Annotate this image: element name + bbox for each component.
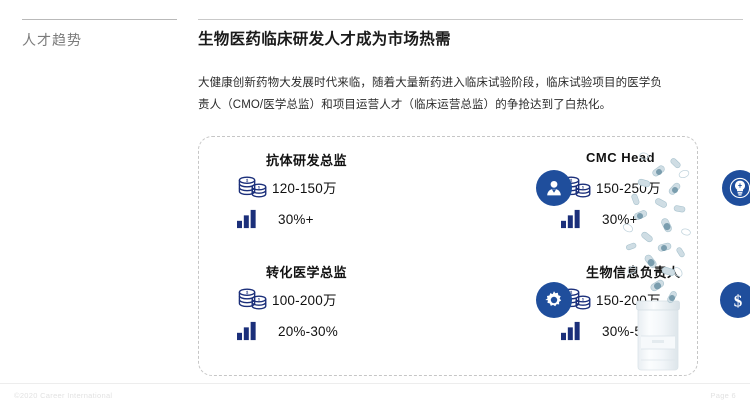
pill-bottle-icon (608, 140, 708, 376)
lightbulb-icon (722, 170, 750, 206)
page-title: 生物医药临床研发人才成为市场热需 (198, 27, 451, 49)
dollar-icon: $ (720, 282, 750, 318)
stat-block-antibody-rd-director: 抗体研发总监 $ $ 120-150万 (224, 150, 429, 246)
salary-row: $ $ 100-200万 (236, 286, 337, 312)
section-divider (22, 19, 177, 20)
coins-icon: $ $ (236, 174, 270, 200)
growth-row: 20%-30% (236, 321, 338, 341)
body-line-2: 责人（CMO/医学总监）和项目运营人才（临床运营总监）的争抢达到了白热化。 (198, 94, 743, 116)
salary-value: 100-200万 (272, 289, 337, 309)
bar-chart-icon (560, 321, 582, 341)
bar-chart-icon (236, 209, 258, 229)
svg-text:$: $ (246, 178, 249, 183)
page-number: Page 6 (710, 391, 736, 400)
salary-row: $ $ 120-150万 (236, 174, 337, 200)
gear-icon (536, 282, 572, 318)
svg-text:$: $ (582, 185, 585, 190)
title-divider (198, 19, 743, 20)
body-line-1: 大健康创新药物大发展时代来临，随着大量新药进入临床试验阶段，临床试验项目的医学负 (198, 72, 743, 94)
body-paragraph: 大健康创新药物大发展时代来临，随着大量新药进入临床试验阶段，临床试验项目的医学负… (198, 72, 743, 116)
copyright-text: ©2020 Career International (14, 391, 112, 400)
svg-text:$: $ (582, 297, 585, 302)
section-label: 人才趋势 (22, 30, 82, 50)
svg-text:$: $ (258, 297, 261, 302)
footer-divider (0, 383, 750, 384)
role-title: 转化医学总监 (266, 262, 347, 281)
left-rail: 人才趋势 (0, 0, 190, 419)
person-icon (536, 170, 572, 206)
salary-value: 120-150万 (272, 177, 337, 197)
growth-row: 30%+ (236, 209, 314, 229)
coins-icon: $ $ (236, 286, 270, 312)
role-title: 抗体研发总监 (266, 150, 347, 169)
stat-block-translational-medicine-director: 转化医学总监 $ $ 100-200万 (224, 262, 429, 358)
bar-chart-icon (236, 321, 258, 341)
svg-text:$: $ (246, 290, 249, 295)
growth-value: 30%+ (278, 212, 314, 227)
main-content: 生物医药临床研发人才成为市场热需 大健康创新药物大发展时代来临，随着大量新药进入… (198, 0, 750, 419)
svg-text:$: $ (258, 185, 261, 190)
bar-chart-icon (560, 209, 582, 229)
svg-text:$: $ (734, 292, 743, 311)
growth-value: 20%-30% (278, 324, 338, 339)
